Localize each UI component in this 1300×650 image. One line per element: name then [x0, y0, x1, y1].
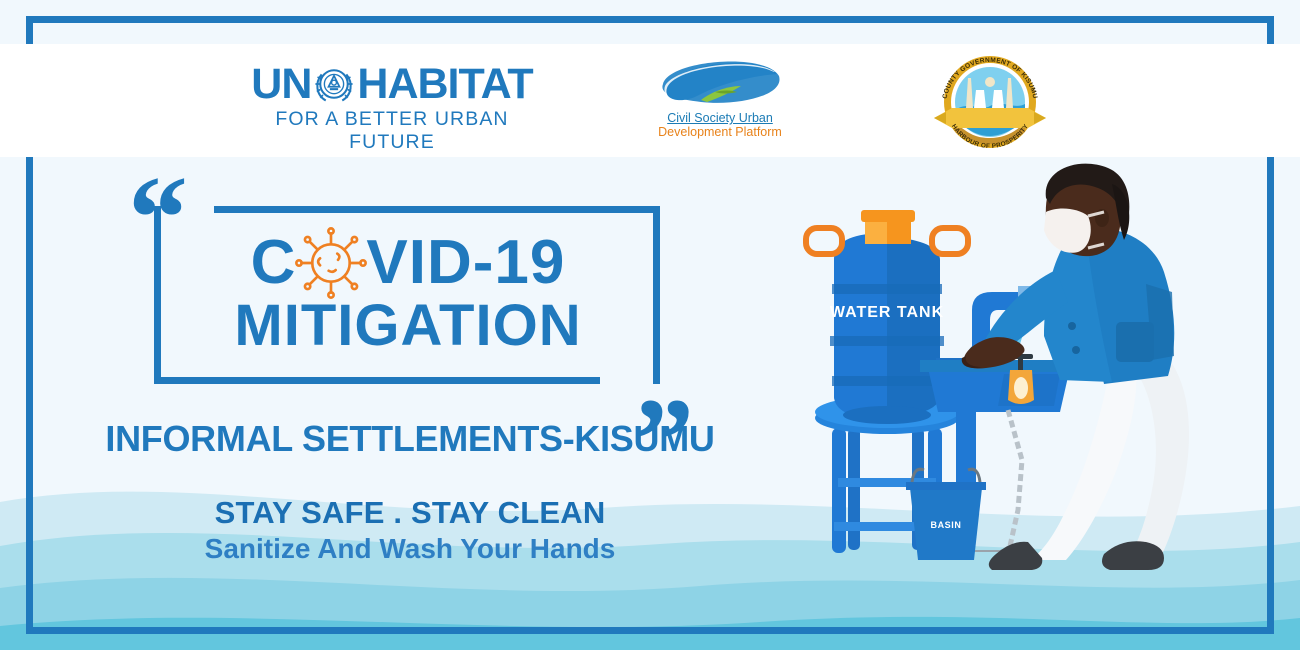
basin-label: BASIN	[930, 520, 961, 530]
un-emblem-icon	[312, 62, 356, 106]
shoe-front	[989, 542, 1042, 570]
csudp-line2: Development Platform	[645, 125, 795, 139]
settlements-line: INFORMAL SETTLEMENTS-KISUMU	[30, 418, 790, 460]
un-habitat-word-left: UN	[251, 63, 311, 106]
county-seal-icon: HARBOUR OF PROSPERITY COUNTY GOVERNMENT …	[932, 48, 1048, 152]
csudp-emblem-icon	[645, 56, 795, 108]
csudp-logo: Civil Society Urban Development Platform	[645, 56, 795, 140]
sanitize-line: Sanitize And Wash Your Hands	[30, 533, 790, 565]
csudp-line1: Civil Society Urban	[645, 111, 795, 125]
pull-chain	[1008, 410, 1022, 546]
kisumu-county-logo: HARBOUR OF PROSPERITY COUNTY GOVERNMENT …	[930, 48, 1050, 157]
face-mask	[1044, 209, 1091, 253]
shoe-back	[1102, 541, 1164, 570]
headline-quote-block: “ ” C	[128, 192, 688, 404]
covid-title-line: C VID-19	[188, 224, 628, 302]
poster-canvas: WATER TANK	[0, 0, 1300, 650]
handwashing-station-illustration: WATER TANK	[760, 160, 1280, 600]
logo-band: UN HABITAT FOR A BETTER URBAN FUTURE	[0, 44, 1300, 157]
covid-suffix: VID-19	[366, 232, 565, 294]
basin-bucket-icon: BASIN	[906, 469, 986, 560]
un-habitat-logo: UN HABITAT FOR A BETTER URBAN FUTURE	[232, 62, 552, 154]
stay-safe-line: STAY SAFE . STAY CLEAN	[30, 495, 790, 531]
un-habitat-word-right: HABITAT	[357, 63, 532, 106]
virus-icon	[292, 224, 370, 302]
un-habitat-tagline: FOR A BETTER URBAN FUTURE	[232, 108, 552, 154]
mitigation-title: MITIGATION	[188, 297, 628, 355]
jacket-pocket	[1116, 322, 1154, 362]
water-tank-label: WATER TANK	[830, 304, 944, 321]
covid-prefix: C	[251, 232, 297, 294]
